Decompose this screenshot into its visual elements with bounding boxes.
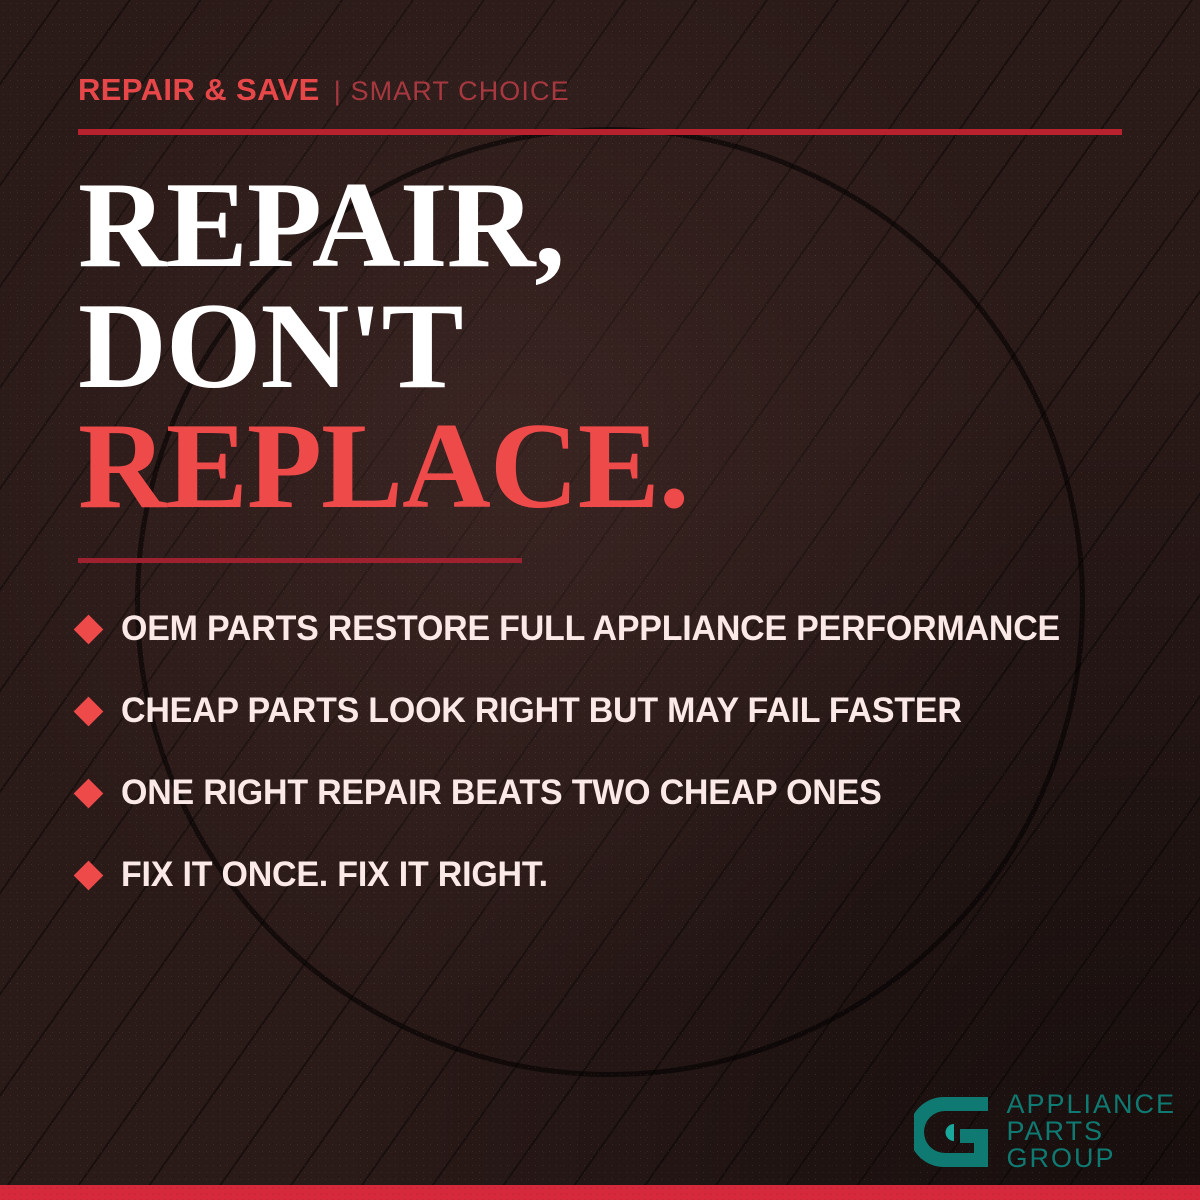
headline-line-1: REPAIR,: [78, 165, 688, 286]
diamond-bullet-icon: [74, 860, 104, 890]
brand-logo: APPLIANCE PARTS GROUP: [914, 1091, 1176, 1172]
list-item-label: CHEAP PARTS LOOK RIGHT BUT MAY FAIL FAST…: [121, 691, 962, 731]
page-title: REPAIR, DON'T REPLACE.: [78, 165, 688, 527]
logo-g-mark-icon: [914, 1093, 992, 1171]
poster-canvas: REPAIR & SAVE | SMART CHOICE REPAIR, DON…: [0, 0, 1200, 1200]
list-item: OEM PARTS RESTORE FULL APPLIANCE PERFORM…: [78, 588, 1148, 670]
eyebrow-main-label: REPAIR & SAVE: [78, 72, 320, 108]
list-item: FIX IT ONCE. FIX IT RIGHT.: [78, 834, 1148, 916]
headline-line-2: DON'T: [78, 286, 688, 407]
list-item: ONE RIGHT REPAIR BEATS TWO CHEAP ONES: [78, 752, 1148, 834]
middle-divider-rule: [78, 558, 522, 563]
diamond-bullet-icon: [74, 778, 104, 808]
bottom-accent-bar: [0, 1185, 1200, 1200]
logo-word-line-3: GROUP: [1006, 1145, 1176, 1172]
list-item-label: ONE RIGHT REPAIR BEATS TWO CHEAP ONES: [121, 773, 882, 813]
logo-word-line-2: PARTS: [1006, 1118, 1176, 1145]
logo-word-line-1: APPLIANCE: [1006, 1091, 1176, 1118]
top-divider-rule: [78, 129, 1122, 135]
diamond-bullet-icon: [74, 696, 104, 726]
eyebrow: REPAIR & SAVE | SMART CHOICE: [78, 72, 570, 108]
list-item-label: FIX IT ONCE. FIX IT RIGHT.: [121, 855, 548, 895]
bottom-bar-texture: [0, 1185, 1200, 1200]
list-item-label: OEM PARTS RESTORE FULL APPLIANCE PERFORM…: [121, 609, 1060, 649]
diamond-bullet-icon: [74, 614, 104, 644]
headline-line-3: REPLACE.: [78, 406, 688, 527]
list-item: CHEAP PARTS LOOK RIGHT BUT MAY FAIL FAST…: [78, 670, 1148, 752]
benefit-list: OEM PARTS RESTORE FULL APPLIANCE PERFORM…: [78, 588, 1148, 916]
logo-wordmark: APPLIANCE PARTS GROUP: [1006, 1091, 1176, 1172]
eyebrow-sub-label: | SMART CHOICE: [334, 76, 570, 107]
